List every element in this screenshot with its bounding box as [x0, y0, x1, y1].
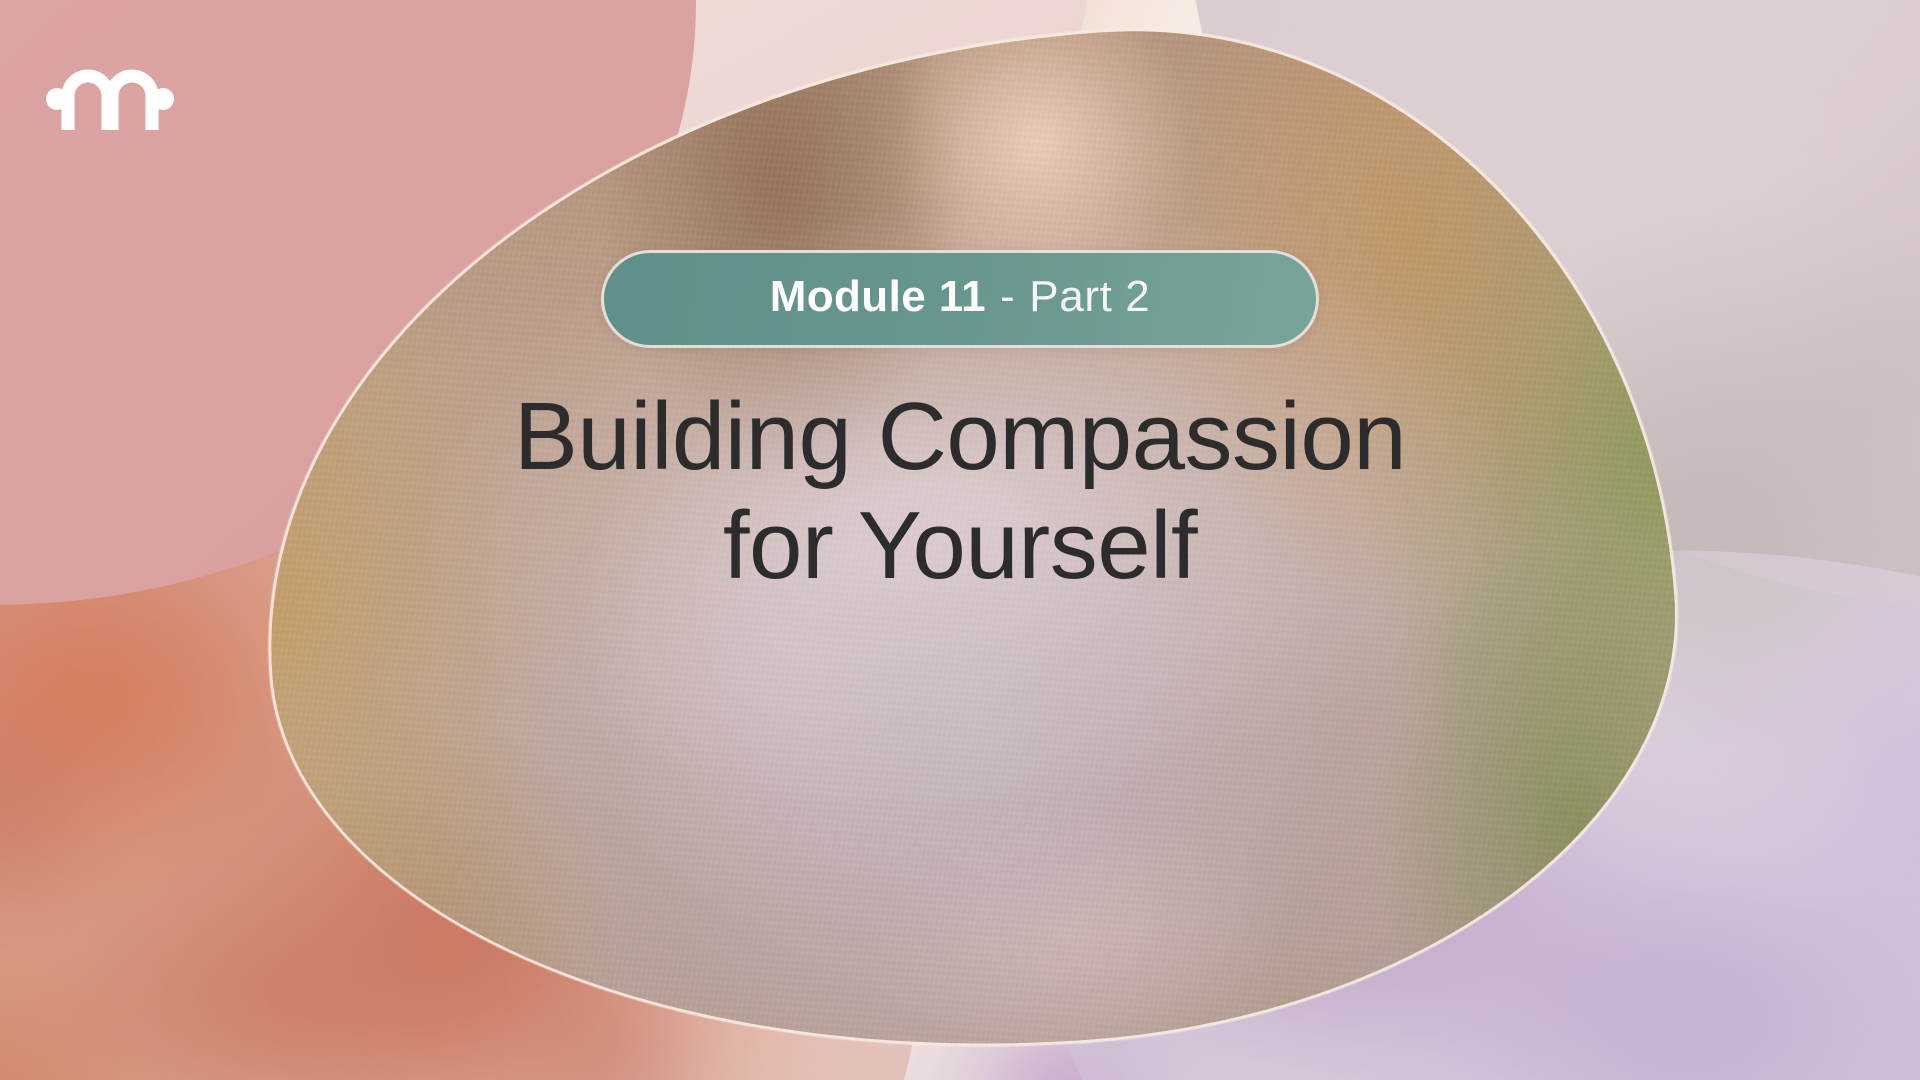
module-badge: Module 11 - Part 2 [601, 250, 1319, 348]
page-title: Building Compassion for Yourself [514, 382, 1406, 601]
module-badge-part-label: Part 2 [1029, 275, 1150, 319]
mindfulness-m-logo-icon [46, 52, 174, 130]
title-card-content: Module 11 - Part 2 Building Compassion f… [300, 250, 1620, 665]
title-card-canvas: Module 11 - Part 2 Building Compassion f… [0, 0, 1920, 1080]
page-title-line-1: Building Compassion [514, 382, 1406, 491]
module-badge-module-label: Module 11 [770, 275, 986, 319]
brand-logo[interactable] [46, 52, 174, 130]
module-badge-separator: - [1000, 275, 1015, 319]
page-title-line-2: for Yourself [514, 491, 1406, 600]
